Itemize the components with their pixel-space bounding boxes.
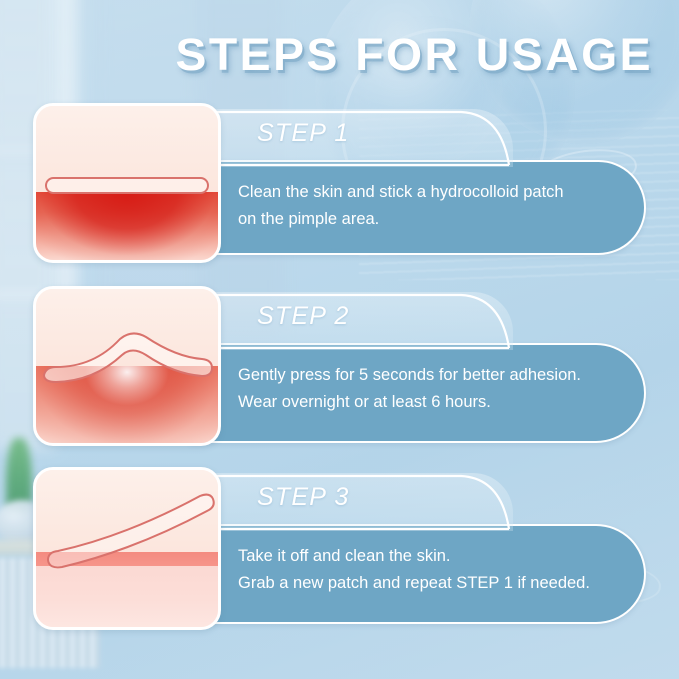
step-3-tab: STEP 3 bbox=[213, 473, 513, 531]
step-3-text-panel: Take it off and clean the skin. Grab a n… bbox=[190, 524, 646, 624]
step-2-line-2: Wear overnight or at least 6 hours. bbox=[238, 389, 602, 416]
step-1-label: STEP 1 bbox=[257, 119, 349, 148]
step-2-text-panel: Gently press for 5 seconds for better ad… bbox=[190, 343, 646, 443]
step-3-label: STEP 3 bbox=[257, 483, 349, 512]
patch-peeling-off-icon bbox=[36, 470, 218, 627]
step-2-illustration bbox=[33, 286, 221, 446]
step-1-line-1: Clean the skin and stick a hydrocolloid … bbox=[238, 179, 602, 206]
step-1-line-2: on the pimple area. bbox=[238, 206, 602, 233]
hydrocolloid-patch bbox=[45, 177, 209, 194]
page-title: STEPS FOR USAGE bbox=[0, 29, 653, 81]
step-2-label: STEP 2 bbox=[257, 302, 349, 331]
step-1-tab: STEP 1 bbox=[213, 109, 513, 167]
step-2-tab: STEP 2 bbox=[213, 292, 513, 350]
usage-steps-poster: STEPS FOR USAGE Clean the skin and stick… bbox=[0, 0, 679, 679]
step-1-illustration bbox=[33, 103, 221, 263]
step-1-text-panel: Clean the skin and stick a hydrocolloid … bbox=[190, 160, 646, 255]
step-3-illustration bbox=[33, 467, 221, 630]
step-3-description: Take it off and clean the skin. Grab a n… bbox=[238, 543, 602, 597]
hydrocolloid-patch-bulge-icon bbox=[36, 289, 218, 443]
step-1-description: Clean the skin and stick a hydrocolloid … bbox=[238, 179, 602, 233]
step-3-line-2: Grab a new patch and repeat STEP 1 if ne… bbox=[238, 570, 602, 597]
step-2-line-1: Gently press for 5 seconds for better ad… bbox=[238, 362, 602, 389]
inflamed-skin bbox=[36, 192, 218, 260]
step-2-description: Gently press for 5 seconds for better ad… bbox=[238, 362, 602, 416]
step-3-line-1: Take it off and clean the skin. bbox=[238, 543, 602, 570]
